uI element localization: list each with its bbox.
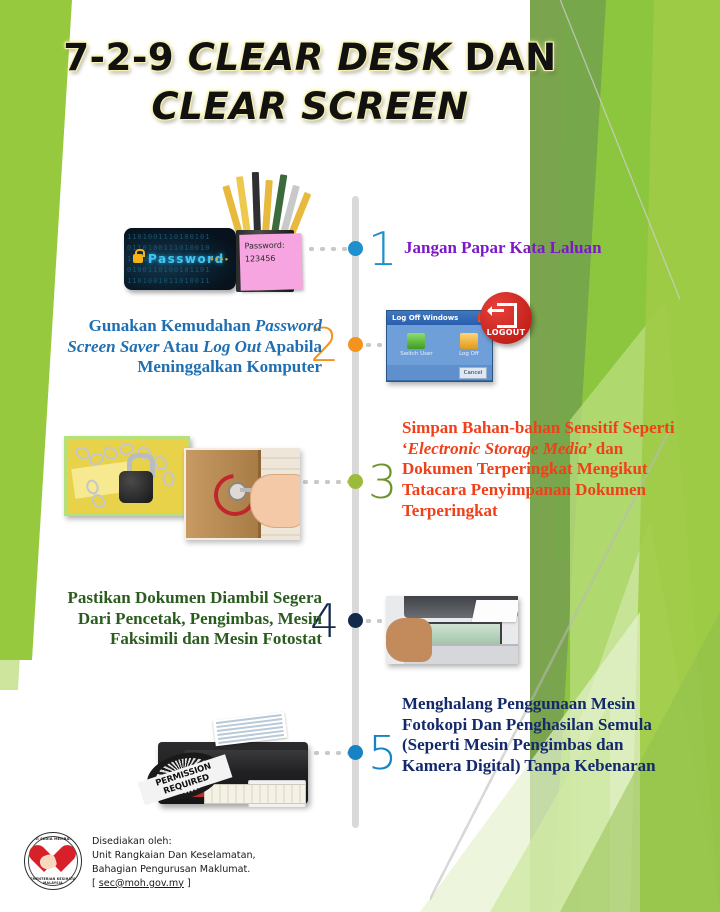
dialog-title: Log Off Windows	[392, 314, 458, 322]
cancel-button[interactable]: Cancel	[459, 367, 487, 379]
email-link[interactable]: sec@moh.gov.my	[99, 878, 184, 889]
connector-line-3	[300, 480, 348, 484]
credits-line-1: Disediakan oleh:	[92, 835, 256, 849]
locking-cabinet-illustration	[184, 448, 300, 540]
switch-user-icon	[407, 333, 425, 349]
timeline-dot-2	[348, 337, 363, 352]
sticky-note: Password: 123456	[239, 233, 302, 291]
pencil-cup-image: Password: 123456	[228, 172, 302, 292]
item-number-5: 5	[368, 730, 397, 776]
title-code: 7-2-9	[63, 36, 187, 79]
page-title: 7-2-9 CLEAR DESK DAN CLEAR SCREEN	[0, 34, 620, 132]
sticky-note-line2: 123456	[245, 252, 297, 266]
connector-line-1	[306, 247, 348, 251]
pen-3	[252, 172, 261, 234]
item3-seg-2: Electronic Storage Media	[408, 439, 587, 458]
item-text-3: Simpan Bahan-bahan Sensitif Seperti ‘Ele…	[402, 418, 690, 522]
printer-image: PERMISSION REQUIRED	[140, 720, 324, 812]
logo-top-text: KAMI SEDIA MEMBANTU	[25, 837, 81, 841]
infographic-poster: 7-2-9 CLEAR DESK DAN CLEAR SCREEN 1 2 3 …	[0, 0, 720, 912]
item-text-1: Jangan Papar Kata Laluan	[404, 238, 694, 259]
footer: KAMI SEDIA MEMBANTU KEMENTERIAN KESIHATA…	[24, 832, 364, 896]
footer-credits: Disediakan oleh: Unit Rangkaian Dan Kese…	[92, 832, 256, 891]
credits-line-3: Bahagian Pengurusan Maklumat.	[92, 863, 256, 877]
log-off-icon	[460, 333, 478, 349]
timeline-dot-1	[348, 241, 363, 256]
logo-bottom-text: KEMENTERIAN KESIHATAN MALAYSIA	[25, 877, 81, 885]
logout-badge-label: LOGOUT	[480, 328, 532, 337]
timeline-dot-4	[348, 613, 363, 628]
log-off-windows-dialog: Log Off Windows Switch User Log Off Canc…	[386, 310, 493, 382]
password-masked-dots: ••••	[210, 254, 229, 266]
item-number-1: 1	[368, 226, 397, 272]
email-bracket-close: ]	[184, 878, 191, 889]
item-text-4: Pastikan Dokumen Diambil Segera Dari Pen…	[40, 588, 322, 650]
item-text-2: Gunakan Kemudahan Password Screen Saver …	[40, 316, 322, 378]
padlock-icon	[133, 254, 143, 263]
item-text-5: Menghalang Penggunaan Mesin Fotokopi Dan…	[402, 694, 684, 777]
switch-user-button[interactable]: Switch User	[400, 333, 432, 357]
item2-seg-4: Log Out	[203, 337, 261, 356]
credits-line-2: Unit Rangkaian Dan Keselamatan,	[92, 849, 256, 863]
item2-seg-3: Atau	[159, 337, 202, 356]
hand-illustration	[250, 474, 300, 528]
dialog-footer: Cancel	[387, 365, 492, 380]
padlock-body	[119, 471, 153, 503]
item-number-3: 3	[368, 459, 397, 505]
password-screen-image: 1101001110100101011010011101001010010111…	[124, 228, 236, 290]
credits-email-row: [ sec@moh.gov.my ]	[92, 877, 256, 891]
item2-seg-1: Gunakan Kemudahan	[89, 316, 255, 335]
timeline-dot-5	[348, 745, 363, 760]
hand-at-copier	[386, 618, 432, 662]
dialog-title-bar: Log Off Windows	[387, 311, 492, 325]
copier-image	[386, 596, 518, 664]
timeline-axis	[352, 196, 359, 828]
padlock-chain-image	[64, 436, 190, 516]
log-off-button[interactable]: Log Off	[459, 333, 479, 357]
logout-badge: LOGOUT	[480, 292, 532, 344]
logout-door-icon	[497, 303, 517, 328]
chain-link-7	[161, 471, 175, 488]
copier-output-paper	[472, 600, 518, 622]
dialog-body: Switch User Log Off	[387, 325, 492, 365]
logout-arrow-icon	[488, 309, 504, 312]
log-off-label: Log Off	[459, 351, 479, 357]
title-clear-desk: CLEAR DESK	[188, 36, 451, 79]
title-dan: DAN	[451, 36, 557, 79]
timeline-dot-3	[348, 474, 363, 489]
switch-user-label: Switch User	[400, 351, 432, 357]
moh-logo: KAMI SEDIA MEMBANTU KEMENTERIAN KESIHATA…	[24, 832, 82, 890]
email-bracket-open: [	[92, 878, 99, 889]
title-clear-screen: CLEAR SCREEN	[0, 83, 620, 132]
